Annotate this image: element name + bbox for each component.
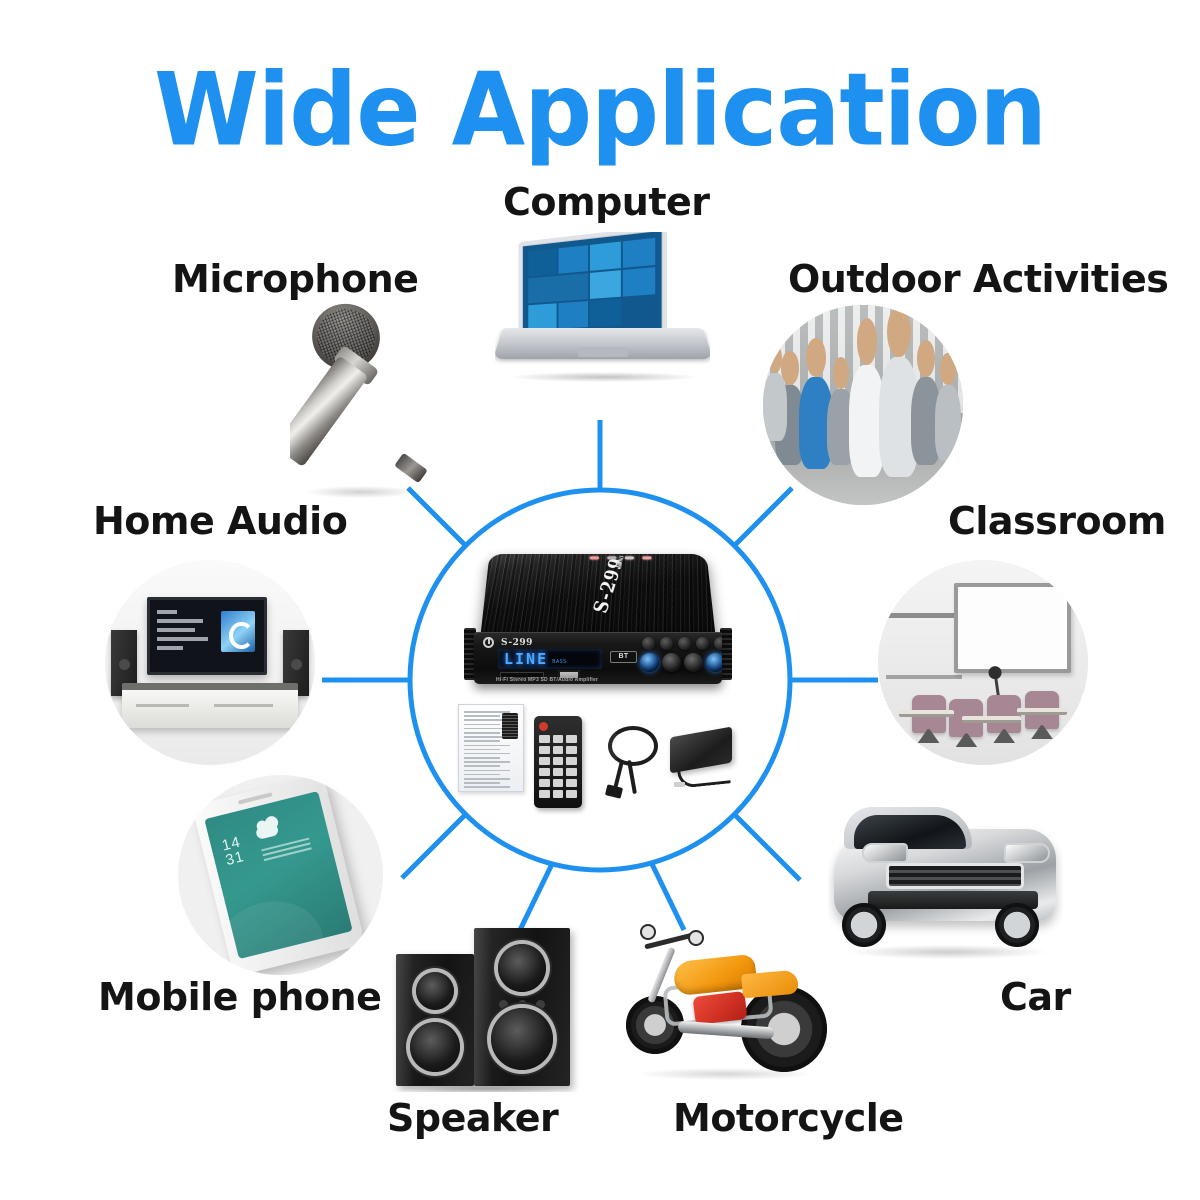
front-knob-row[interactable] (640, 653, 722, 672)
label-speaker: Speaker (387, 1096, 558, 1140)
microphone-handle (290, 355, 369, 467)
label-microphone: Microphone (172, 257, 418, 301)
classroom-wall-rail-lower (886, 675, 962, 679)
laptop-lid (518, 232, 666, 341)
tv-album-art (221, 611, 255, 651)
cable-plug (605, 784, 623, 799)
laptop-icon (495, 232, 710, 392)
speaker-woofer (410, 1022, 460, 1072)
car-headlight-right (1004, 843, 1050, 863)
label-home-audio: Home Audio (93, 499, 347, 543)
classroom-wall-rail (886, 613, 957, 618)
speaker-left (396, 954, 474, 1086)
media-console (122, 683, 298, 728)
car-icon (828, 805, 1063, 965)
smartphone-lockscreen: 14 31 (205, 791, 353, 959)
display-source-text: LINE (504, 650, 548, 668)
laptop-shadow (511, 372, 697, 382)
adapter-dc-tip (674, 782, 685, 787)
clock-minutes: 31 (224, 849, 246, 868)
play-button[interactable] (678, 637, 691, 650)
amplifier-front-panel: S-299 LINE BASS BT (474, 632, 722, 684)
smartphone-icon: 14 31 (178, 775, 383, 975)
manual-remote-diagram (502, 713, 518, 739)
label-classroom: Classroom (948, 499, 1166, 543)
car-headlight-left (862, 843, 908, 863)
label-outdoor-activities: Outdoor Activities (788, 257, 1168, 301)
cloud-icon (255, 823, 279, 840)
amplifier-unit: S-299 MINI 4.1CH HI-FI STEREO AUDIO AMPL… (474, 536, 722, 686)
label-mobile-phone: Mobile phone (98, 975, 381, 1019)
microphone-icon (290, 300, 430, 505)
motorcycle-mirror (642, 926, 654, 938)
remote-power-button (539, 722, 548, 731)
motorcycle-mirror (690, 932, 702, 944)
treble-knob[interactable] (684, 653, 703, 672)
spoke-car (734, 814, 800, 880)
television-screen (147, 597, 267, 675)
car-wheel (995, 903, 1039, 947)
label-motorcycle: Motorcycle (673, 1096, 904, 1140)
speaker-pair-icon (386, 912, 591, 1092)
infographic-canvas: Wide Application Computer Microphone Out… (0, 0, 1200, 1200)
speaker-tweeter (416, 972, 454, 1010)
mode-button[interactable] (642, 637, 655, 650)
power-button[interactable] (483, 637, 494, 648)
led-display: LINE BASS (498, 649, 602, 669)
spoke-mobile-phone (402, 814, 466, 878)
motorcycle-shadow (638, 1068, 813, 1080)
lockscreen-clock: 14 31 (220, 834, 245, 868)
motorcycle-seat (741, 970, 799, 999)
car-shadow (850, 945, 1046, 959)
speaker-shadow (400, 1084, 570, 1092)
label-car: Car (1000, 975, 1071, 1019)
television-icon (105, 560, 315, 765)
bluetooth-badge: BT (610, 651, 637, 663)
classroom-whiteboard (954, 583, 1072, 673)
car-grille (886, 863, 1024, 889)
cable-coil (608, 726, 658, 766)
remote-keypad (539, 735, 577, 798)
front-subtitle-text: Hi-Fi Stereo MP3 SD BT/Audio Amplifier (496, 677, 598, 683)
volume-knob[interactable] (640, 653, 659, 672)
ir-remote-control (534, 716, 582, 808)
microphone-connector (394, 453, 428, 484)
whiteboard-icon (878, 560, 1088, 765)
microphone-shadow (306, 486, 416, 498)
lockscreen-weather-text (261, 838, 312, 864)
front-model-text: S-299 (501, 638, 533, 648)
speaker-tweeter (498, 944, 546, 992)
power-adapter (670, 728, 744, 792)
display-unit-text: BASS (552, 659, 566, 665)
motorcycle-icon (618, 920, 833, 1080)
smartphone-body: 14 31 (192, 775, 366, 975)
car-wheel (842, 903, 886, 947)
bass-knob[interactable] (662, 653, 681, 672)
front-button-row[interactable] (642, 637, 722, 650)
previous-button[interactable] (660, 637, 673, 650)
adapter-cord (677, 765, 731, 788)
eq-button[interactable] (714, 637, 722, 650)
laptop-keyboard-base (495, 328, 710, 359)
amplifier-top-cover: S-299 MINI 4.1CH HI-FI STEREO AUDIO AMPL… (480, 554, 716, 640)
laptop-screen (523, 232, 662, 336)
speaker-woofer (491, 1008, 553, 1070)
laptop-trackpad (578, 347, 628, 357)
crowd-icon (763, 305, 963, 505)
subwoofer-knob[interactable] (706, 653, 722, 672)
power-cable (596, 724, 672, 796)
label-computer: Computer (503, 180, 710, 224)
product-photo-amplifier: S-299 MINI 4.1CH HI-FI STEREO AUDIO AMPL… (450, 528, 750, 818)
speaker-right (474, 928, 570, 1086)
user-manual (458, 704, 524, 792)
next-button[interactable] (696, 637, 709, 650)
